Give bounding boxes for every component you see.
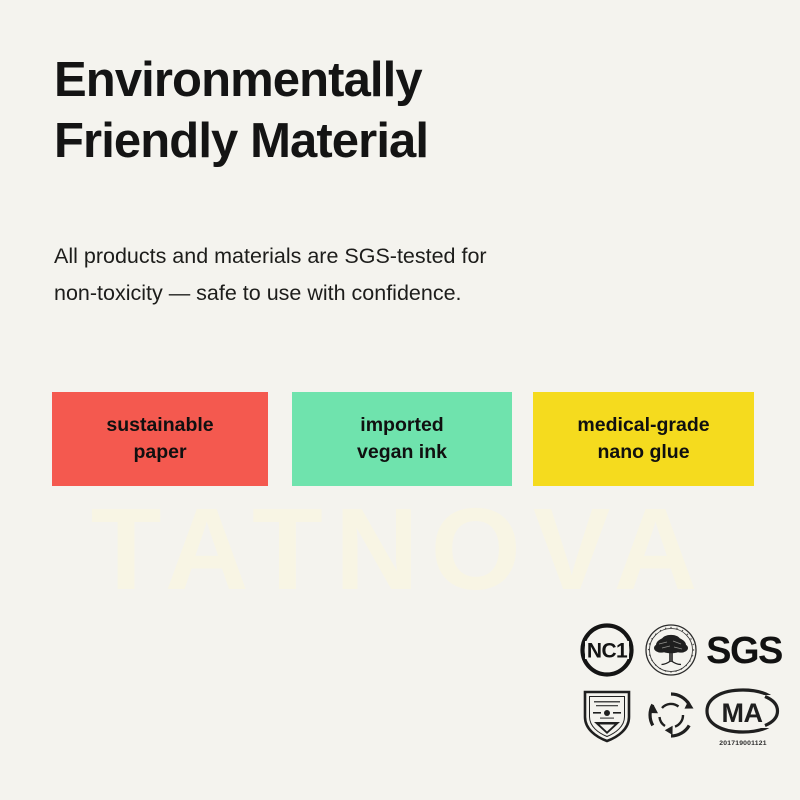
quality-shield-logo <box>579 685 635 745</box>
badge-medical-grade-nano-glue-line-1: medical-grade <box>577 412 709 439</box>
badge-imported-vegan-ink: imported vegan ink <box>292 392 512 486</box>
forest-certification-seal <box>642 621 700 679</box>
material-badge-group: sustainable paper imported vegan ink med… <box>52 392 754 486</box>
certification-logo-grid: NC1 <box>575 619 783 747</box>
sgs-certification-logo: SGS <box>705 627 783 673</box>
nc1-certification-logo: NC1 <box>577 621 637 679</box>
badge-medical-grade-nano-glue: medical-grade nano glue <box>533 392 754 486</box>
badge-sustainable-paper-line-1: sustainable <box>106 412 213 439</box>
poster-canvas: TATNOVA Environmentally Friendly Materia… <box>0 0 800 800</box>
badge-medical-grade-nano-glue-line-2: nano glue <box>597 439 689 466</box>
cma-certification-logo: MA 201719001121 <box>703 687 783 745</box>
badge-imported-vegan-ink-line-2: vegan ink <box>357 439 447 466</box>
badge-sustainable-paper-line-2: paper <box>133 439 186 466</box>
page-subtitle-line-1: All products and materials are SGS-teste… <box>54 238 674 275</box>
svg-text:SGS: SGS <box>706 630 782 672</box>
cma-certificate-number: 201719001121 <box>703 740 783 747</box>
page-title: Environmentally Friendly Material <box>54 50 754 172</box>
badge-sustainable-paper: sustainable paper <box>52 392 268 486</box>
page-title-line-1: Environmentally <box>54 50 754 111</box>
shield-badge-icon <box>580 686 634 744</box>
brand-watermark: TATNOVA <box>2 487 798 612</box>
page-subtitle: All products and materials are SGS-teste… <box>54 238 674 312</box>
recycling-arrows-icon <box>644 688 698 742</box>
sgs-logo-icon: SGS <box>705 628 783 672</box>
forest-tree-seal-icon <box>643 622 699 678</box>
cma-mark-icon: MA <box>703 687 783 735</box>
nc1-circle-icon: NC1 <box>578 621 636 679</box>
page-subtitle-line-2: non-toxicity — safe to use with confiden… <box>54 275 674 312</box>
svg-text:NC1: NC1 <box>587 640 628 663</box>
page-title-line-2: Friendly Material <box>54 111 754 172</box>
badge-imported-vegan-ink-line-1: imported <box>360 412 443 439</box>
recycling-certification-logo <box>643 687 699 743</box>
svg-text:MA: MA <box>722 698 763 728</box>
